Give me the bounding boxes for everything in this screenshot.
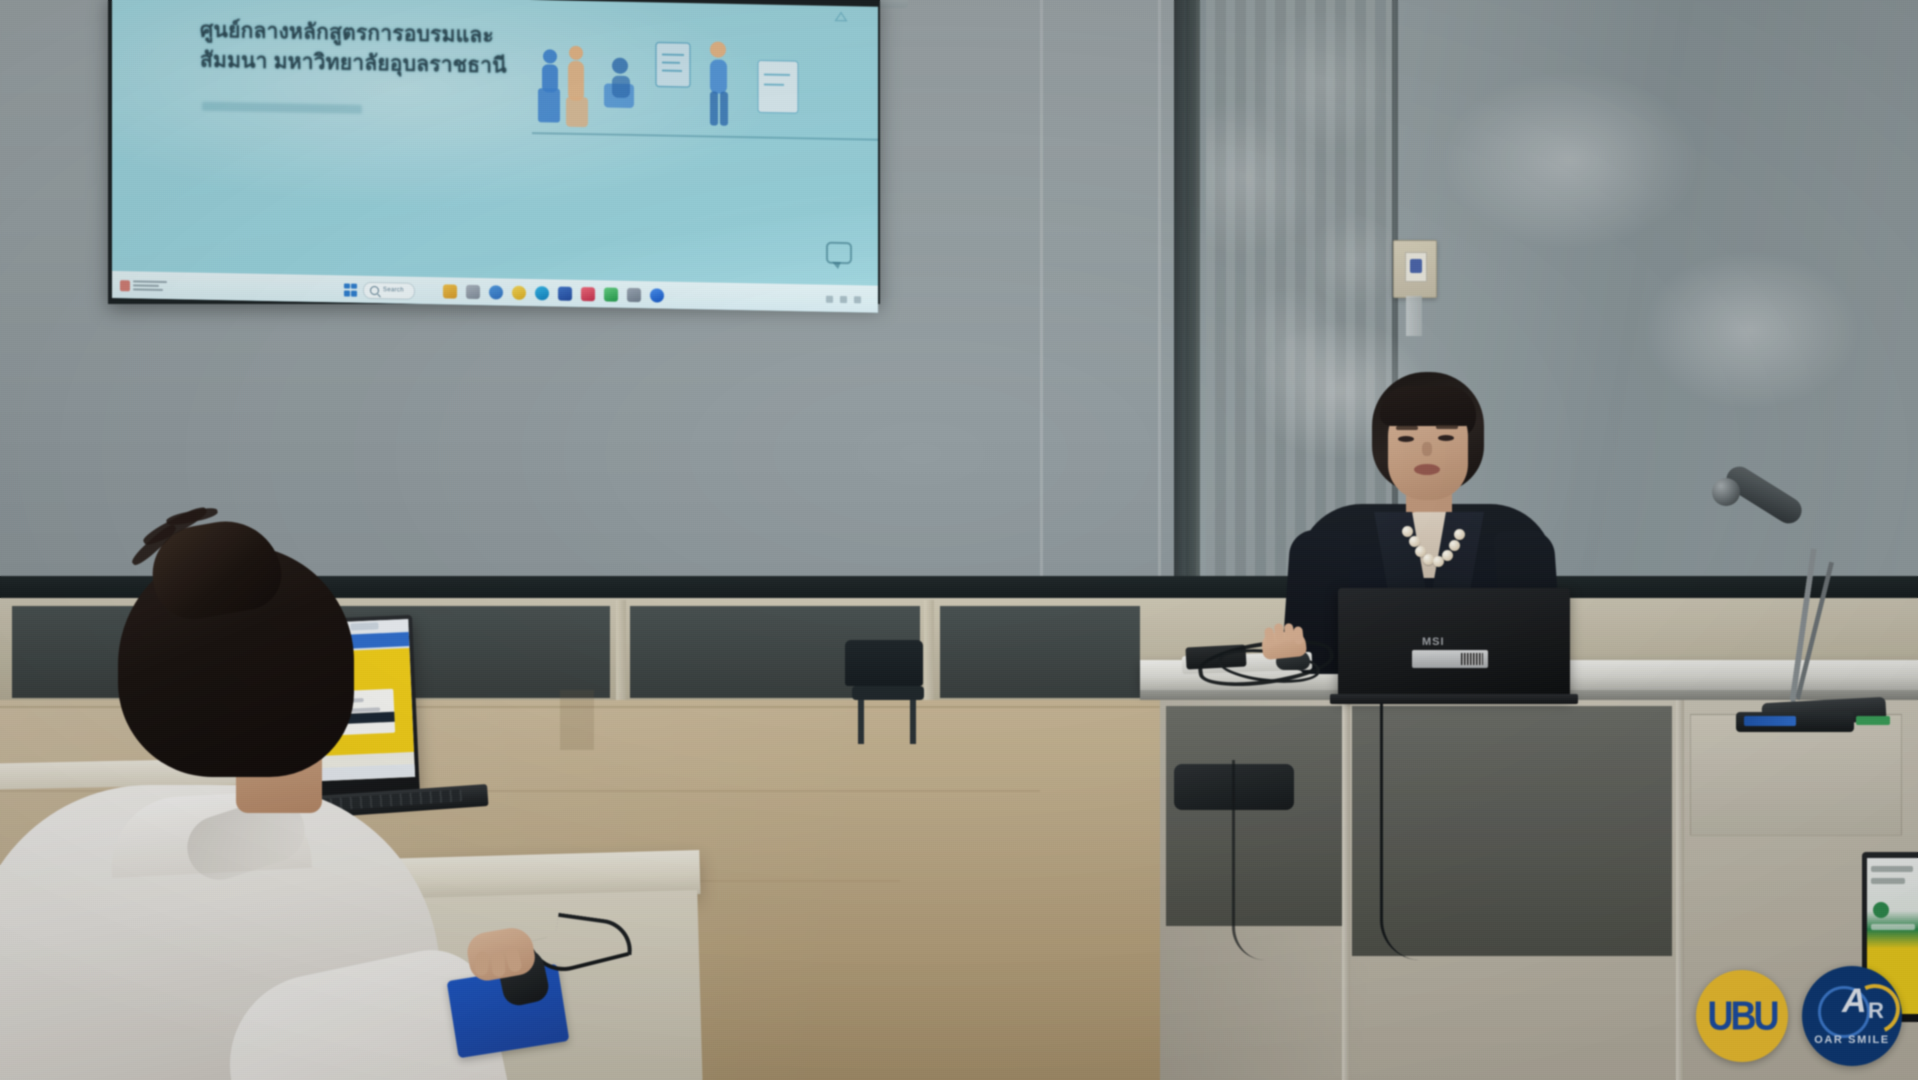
wall-seam-a: [1040, 0, 1043, 600]
presenter-eye-right: [1438, 435, 1454, 441]
wainscot-post-3: [924, 600, 934, 704]
ubu-logo-text: UBU: [1708, 992, 1777, 1039]
wall-seam-b: [1158, 0, 1161, 600]
presenter-desk-divider-2: [1676, 700, 1684, 1080]
participant: [0, 545, 460, 1080]
presenter-desk-cable-2: [1232, 760, 1265, 960]
magnifier-icon: [370, 285, 379, 294]
msi-brand-label: MSI: [1422, 636, 1445, 648]
presenter-pearl-necklace: [1400, 524, 1464, 568]
presenter-eye-left: [1398, 436, 1414, 442]
oar-logo-text: OAR SMILE: [1802, 1034, 1902, 1046]
wall-outlet-plate[interactable]: [1393, 240, 1437, 298]
network-icon[interactable]: [826, 295, 833, 302]
mail-icon[interactable]: [489, 285, 503, 299]
wall-column: [1174, 0, 1200, 600]
ubu-logo: UBU: [1696, 970, 1788, 1062]
presenter-brow-left: [1396, 426, 1418, 430]
search-placeholder: Search: [383, 287, 404, 293]
microphone-capsule: [1712, 478, 1740, 506]
wainscot-post-2: [616, 600, 626, 704]
laptop-spec-sticker: [1412, 650, 1488, 668]
console-green-indicator: [1856, 716, 1890, 725]
presenter-nose: [1422, 442, 1432, 456]
taskbar-tray[interactable]: [826, 295, 878, 303]
taskbar-center: Search: [344, 281, 415, 299]
presenter-desk-drawer[interactable]: [1690, 714, 1902, 836]
widgets-icon[interactable]: [466, 285, 480, 299]
battery-icon[interactable]: [854, 296, 861, 303]
chair-backrest[interactable]: [845, 640, 923, 686]
photo-stage: ศูนย์กลางหลักสูตรการอบรมและ สัมมนา มหาวิ…: [0, 0, 1918, 1080]
edge-laptop-app-icon: [1873, 902, 1889, 918]
calculator-icon[interactable]: [627, 288, 641, 302]
barcode-icon: [1461, 653, 1483, 665]
wainscot-panel-4: [940, 606, 1140, 698]
chat-bubble-icon[interactable]: [826, 242, 852, 264]
chair-leg-right: [910, 700, 916, 744]
wall-plate-conduit: [1406, 296, 1422, 336]
taskbar-brand: [112, 280, 330, 295]
presenter-hair-front: [1380, 386, 1476, 426]
file-explorer-icon[interactable]: [443, 284, 457, 298]
presenter-mouth: [1414, 464, 1440, 475]
wall-plate-icon: [1410, 259, 1422, 273]
line-app-icon[interactable]: [604, 287, 618, 301]
edge-browser-icon[interactable]: [535, 286, 549, 300]
presenter-laptop-base: [1330, 694, 1578, 704]
chair-seat[interactable]: [852, 686, 924, 700]
windows-start-icon[interactable]: [344, 283, 357, 296]
slide-illustration: [532, 26, 832, 148]
slide-title: ศูนย์กลางหลักสูตรการอบรมและ สัมมนา มหาวิ…: [200, 16, 540, 82]
presenter-hand: [1261, 630, 1307, 660]
oar-logo-letter-a: A: [1842, 984, 1867, 1018]
volume-icon[interactable]: [840, 295, 847, 302]
store-icon[interactable]: [558, 287, 572, 301]
brand-text-lines: [133, 280, 167, 291]
wall-plate-inner: [1405, 252, 1427, 282]
office-icon[interactable]: [581, 287, 595, 301]
floor-cable: [560, 690, 594, 750]
brand-mark-icon: [120, 280, 130, 291]
search-input[interactable]: Search: [363, 281, 415, 299]
presenter-brow-right: [1436, 425, 1458, 429]
facebook-icon[interactable]: [650, 288, 664, 302]
logo-overlay: UBU A R OAR SMILE: [1696, 966, 1902, 1066]
chair-leg-left: [858, 700, 864, 744]
weather-icon[interactable]: [512, 286, 526, 300]
presenter-desk-cable-1: [1380, 700, 1423, 960]
console-blue-panel: [1744, 716, 1796, 726]
taskbar-app-list: [443, 284, 664, 302]
oar-smile-logo: A R OAR SMILE: [1802, 966, 1902, 1066]
projection-screen: ศูนย์กลางหลักสูตรการอบรมและ สัมมนา มหาวิ…: [112, 0, 878, 313]
presenter-desk-divider-1: [1342, 700, 1350, 1080]
oar-logo-letter-r: R: [1868, 1000, 1884, 1022]
cloud-sync-icon: [832, 10, 850, 26]
presenter-laptop[interactable]: [1338, 588, 1570, 698]
